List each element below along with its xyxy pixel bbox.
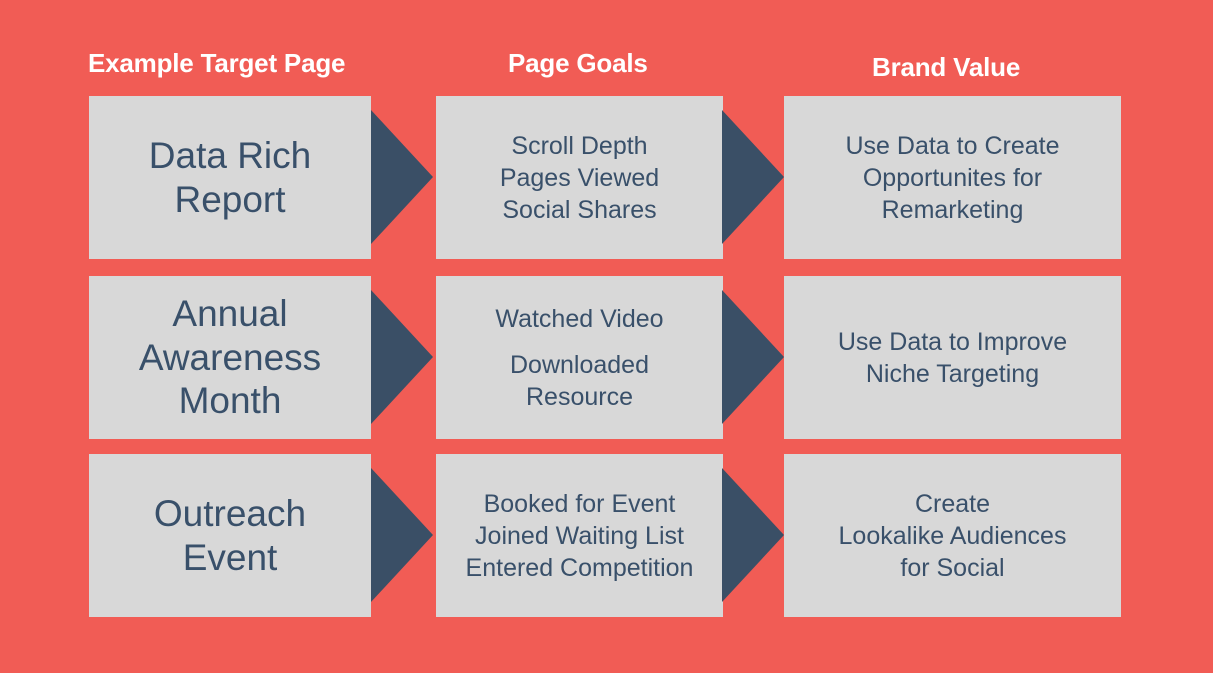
column-header-brand-value: Brand Value (872, 54, 1020, 80)
page-goals-text: Watched Video Downloaded Resource (446, 303, 713, 413)
page-goals-box: Watched Video Downloaded Resource (436, 276, 723, 439)
target-page-box: Data Rich Report (89, 96, 371, 259)
column-headers: Example Target Page Page Goals Brand Val… (0, 0, 1213, 90)
brand-value-box: Use Data to Improve Niche Targeting (784, 276, 1121, 439)
text-line: for Social (794, 552, 1111, 584)
text-line: Scroll Depth (446, 130, 713, 162)
text-paragraph: Watched Video (446, 303, 713, 335)
text-paragraph: Booked for Event Joined Waiting List Ent… (446, 488, 713, 584)
target-page-box: Annual Awareness Month (89, 276, 371, 439)
text-line: Booked for Event (446, 488, 713, 520)
diagram-canvas: Example Target Page Page Goals Brand Val… (0, 0, 1213, 673)
text-line: Downloaded (446, 349, 713, 381)
text-line: Resource (446, 381, 713, 413)
brand-value-text: Create Lookalike Audiences for Social (794, 488, 1111, 584)
text-line: Event (99, 536, 361, 580)
text-paragraph: Annual Awareness Month (99, 292, 361, 423)
text-line: Awareness (99, 336, 361, 380)
target-page-box: Outreach Event (89, 454, 371, 617)
flow-row: Outreach Event Booked for Event Joined W… (0, 454, 1213, 621)
text-paragraph: Use Data to Improve Niche Targeting (794, 326, 1111, 390)
text-line: Month (99, 379, 361, 423)
text-line: Pages Viewed (446, 162, 713, 194)
text-paragraph: Outreach Event (99, 492, 361, 579)
flow-row: Annual Awareness Month Watched Video Dow… (0, 276, 1213, 443)
text-line: Opportunites for (794, 162, 1111, 194)
brand-value-box: Create Lookalike Audiences for Social (784, 454, 1121, 617)
text-line: Social Shares (446, 194, 713, 226)
page-goals-box: Booked for Event Joined Waiting List Ent… (436, 454, 723, 617)
text-line: Niche Targeting (794, 358, 1111, 390)
flow-row: Data Rich Report Scroll Depth Pages View… (0, 96, 1213, 263)
arrow-right-icon (371, 110, 433, 244)
target-page-text: Annual Awareness Month (99, 292, 361, 423)
arrow-right-icon (722, 468, 784, 602)
text-line: Outreach (99, 492, 361, 536)
column-header-page-goals: Page Goals (508, 50, 648, 76)
text-line: Entered Competition (446, 552, 713, 584)
text-line: Annual (99, 292, 361, 336)
text-paragraph: Create Lookalike Audiences for Social (794, 488, 1111, 584)
brand-value-box: Use Data to Create Opportunites for Rema… (784, 96, 1121, 259)
text-paragraph: Data Rich Report (99, 134, 361, 221)
text-line: Lookalike Audiences (794, 520, 1111, 552)
text-line: Remarketing (794, 194, 1111, 226)
text-line: Use Data to Create (794, 130, 1111, 162)
text-paragraph: Use Data to Create Opportunites for Rema… (794, 130, 1111, 226)
text-line: Joined Waiting List (446, 520, 713, 552)
text-line: Create (794, 488, 1111, 520)
page-goals-text: Booked for Event Joined Waiting List Ent… (446, 488, 713, 584)
column-header-target-page: Example Target Page (88, 50, 345, 76)
brand-value-text: Use Data to Improve Niche Targeting (794, 326, 1111, 390)
text-line: Data Rich (99, 134, 361, 178)
text-paragraph: Downloaded Resource (446, 349, 713, 413)
text-paragraph: Scroll Depth Pages Viewed Social Shares (446, 130, 713, 226)
text-line: Report (99, 178, 361, 222)
page-goals-box: Scroll Depth Pages Viewed Social Shares (436, 96, 723, 259)
page-goals-text: Scroll Depth Pages Viewed Social Shares (446, 130, 713, 226)
text-line: Watched Video (446, 303, 713, 335)
arrow-right-icon (722, 110, 784, 244)
arrow-right-icon (722, 290, 784, 424)
target-page-text: Outreach Event (99, 492, 361, 579)
text-line: Use Data to Improve (794, 326, 1111, 358)
target-page-text: Data Rich Report (99, 134, 361, 221)
brand-value-text: Use Data to Create Opportunites for Rema… (794, 130, 1111, 226)
arrow-right-icon (371, 290, 433, 424)
arrow-right-icon (371, 468, 433, 602)
